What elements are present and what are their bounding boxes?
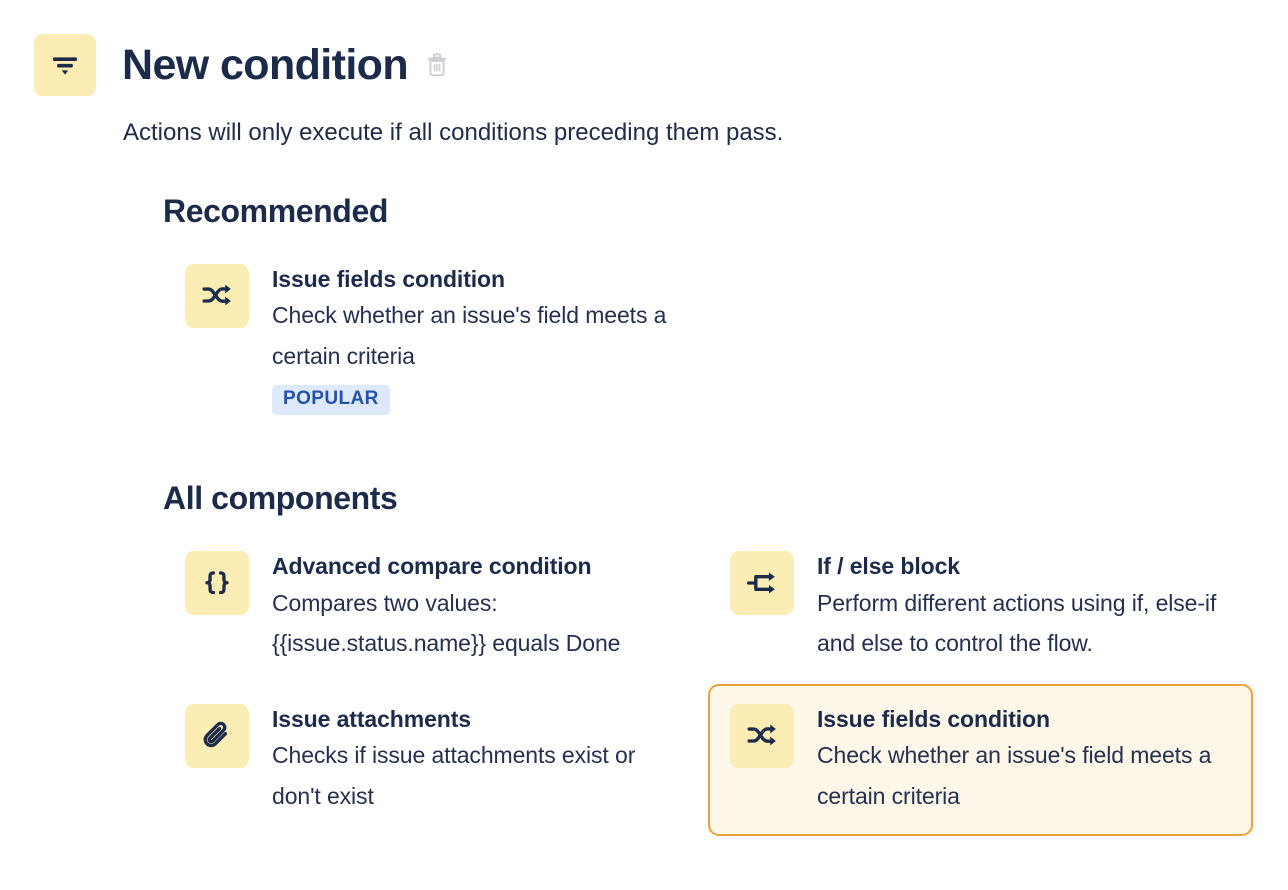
- component-card-issue-fields-condition-recommended[interactable]: Issue fields condition Check whether an …: [163, 244, 1258, 435]
- section-recommended: Recommended Issue fields condition: [163, 195, 1258, 435]
- trash-icon[interactable]: [424, 52, 450, 78]
- component-card-if-else-block[interactable]: If / else block Perform different action…: [708, 531, 1253, 683]
- section-all-components: All components Advanced compare conditio…: [163, 482, 1258, 836]
- branch-icon: [730, 551, 794, 615]
- card-description: Checks if issue attachments exist or don…: [272, 735, 672, 816]
- panel-subtitle: Actions will only execute if all conditi…: [123, 118, 1288, 148]
- card-description: Perform different actions using if, else…: [817, 583, 1231, 664]
- component-card-advanced-compare-condition[interactable]: Advanced compare condition Compares two …: [163, 531, 708, 683]
- curly-braces-icon: [185, 551, 249, 615]
- page-title: New condition: [122, 44, 408, 87]
- card-description: Compares two values: {{issue.status.name…: [272, 583, 672, 664]
- card-title: Issue attachments: [272, 705, 672, 734]
- component-card-issue-fields-condition-selected[interactable]: Issue fields condition Check whether an …: [708, 684, 1253, 836]
- title-group: New condition: [122, 44, 450, 87]
- card-title: Issue fields condition: [272, 265, 682, 294]
- panel-header: New condition: [0, 0, 1288, 96]
- card-body: If / else block Perform different action…: [817, 551, 1231, 663]
- shuffle-icon: [185, 264, 249, 328]
- all-components-grid: Advanced compare condition Compares two …: [163, 531, 1258, 836]
- shuffle-icon: [730, 704, 794, 768]
- card-title: Issue fields condition: [817, 705, 1231, 734]
- card-body: Advanced compare condition Compares two …: [272, 551, 672, 663]
- filter-icon: [34, 34, 96, 96]
- section-heading-recommended: Recommended: [163, 195, 1258, 227]
- card-title: If / else block: [817, 552, 1231, 581]
- status-badge-popular: POPULAR: [272, 385, 390, 415]
- card-body: Issue attachments Checks if issue attach…: [272, 704, 672, 816]
- section-heading-all-components: All components: [163, 482, 1258, 514]
- recommended-list: Issue fields condition Check whether an …: [163, 244, 1258, 435]
- card-title: Advanced compare condition: [272, 552, 672, 581]
- card-body: Issue fields condition Check whether an …: [817, 704, 1231, 816]
- card-description: Check whether an issue's field meets a c…: [272, 295, 682, 376]
- paperclip-icon: [185, 704, 249, 768]
- new-condition-panel: New condition Actions will only execute …: [0, 0, 1288, 890]
- component-card-issue-attachments[interactable]: Issue attachments Checks if issue attach…: [163, 684, 708, 836]
- card-body: Issue fields condition Check whether an …: [272, 264, 682, 415]
- card-description: Check whether an issue's field meets a c…: [817, 735, 1231, 816]
